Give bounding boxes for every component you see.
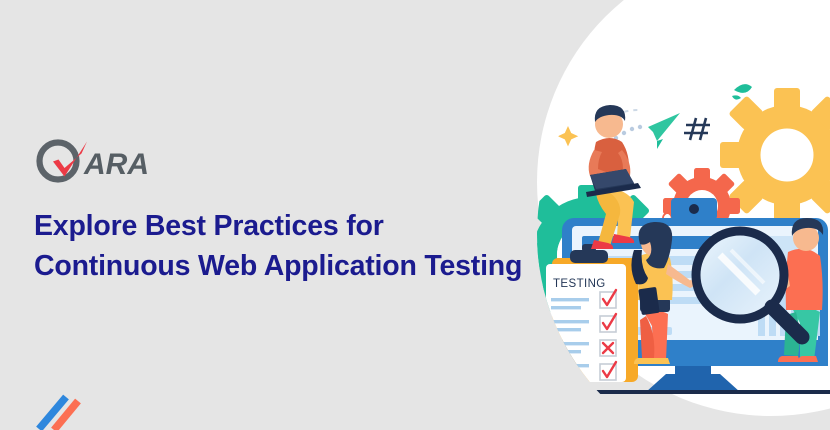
headline-line-2: Continuous Web Application Testing xyxy=(34,246,544,286)
logo[interactable]: ARA xyxy=(34,137,159,185)
decorative-slashes xyxy=(34,384,90,430)
clipboard-title: TESTING xyxy=(553,278,606,290)
logo-wordmark: ARA xyxy=(83,148,149,181)
leaf-icon xyxy=(732,84,752,99)
page-title: Explore Best Practices for Continuous We… xyxy=(34,206,544,286)
promo-banner: ARA Explore Best Practices for Continuou… xyxy=(0,0,830,430)
star-icon xyxy=(558,126,578,146)
illustration-svg: TESTING xyxy=(520,40,830,395)
headline-line-1: Explore Best Practices for xyxy=(34,206,544,246)
q-circle-check-icon xyxy=(40,142,88,182)
clipboard: TESTING xyxy=(546,244,638,382)
hero-illustration: TESTING xyxy=(520,40,830,395)
paper-plane-icon xyxy=(648,113,680,149)
hashtag-icon xyxy=(684,118,710,140)
logo-svg: ARA xyxy=(34,137,159,185)
